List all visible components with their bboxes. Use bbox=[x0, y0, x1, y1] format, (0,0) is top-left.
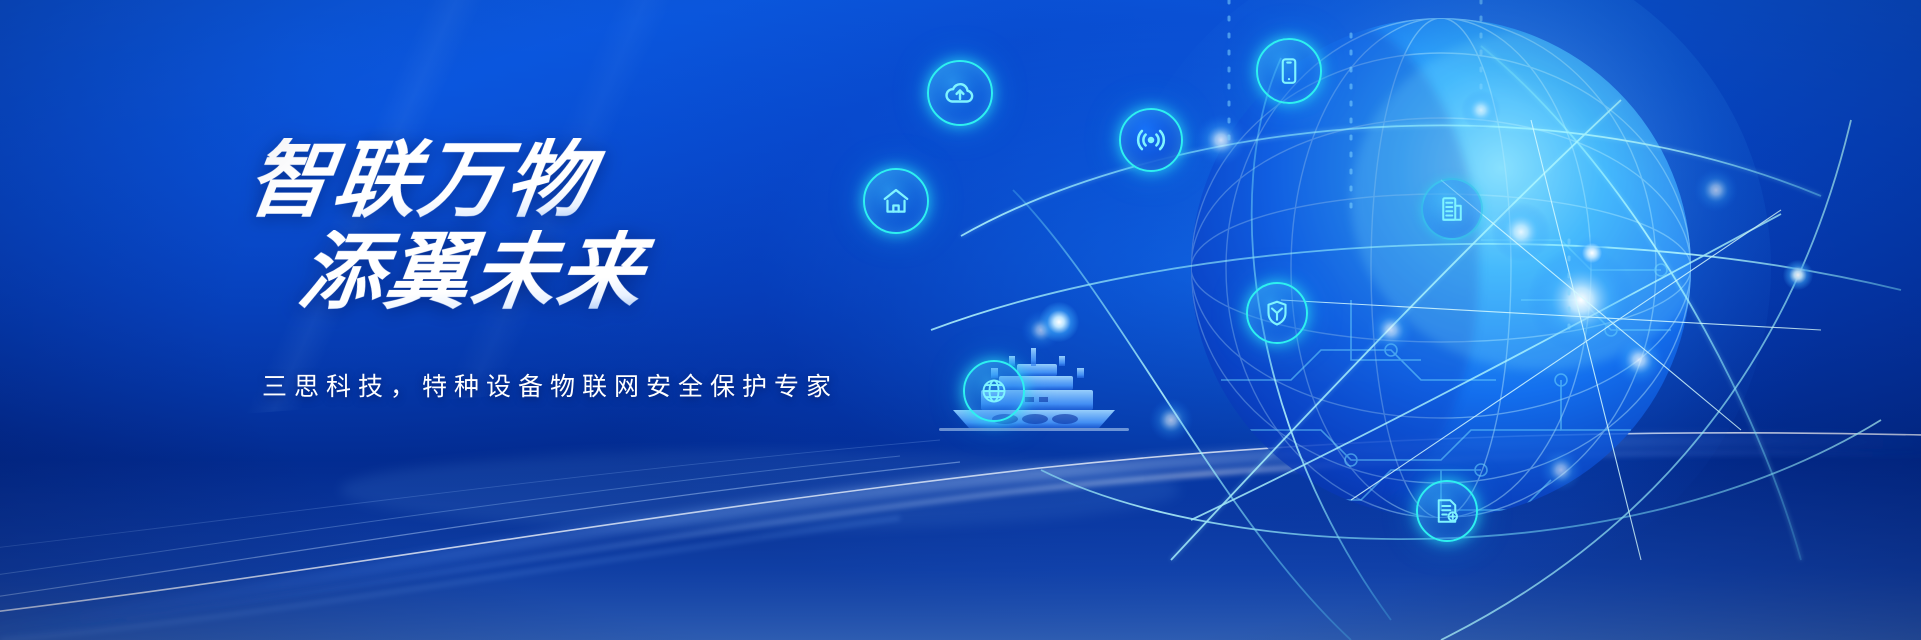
headline-line-1: 智联万物 bbox=[242, 138, 954, 224]
document-report-icon[interactable] bbox=[1416, 480, 1478, 542]
mobile-phone-icon[interactable] bbox=[1256, 38, 1322, 104]
wifi-signal-icon[interactable] bbox=[1119, 108, 1183, 172]
building-icon[interactable] bbox=[1421, 178, 1483, 240]
headline-line-2: 添翼未来 bbox=[294, 230, 954, 316]
home-icon[interactable] bbox=[863, 168, 929, 234]
globe-graphic bbox=[921, 0, 1921, 640]
globe-network-icon[interactable] bbox=[963, 360, 1025, 422]
globe-network-scene bbox=[921, 0, 1921, 640]
shield-icon[interactable] bbox=[1246, 282, 1308, 344]
hero-banner: 智联万物 添翼未来 三思科技，特种设备物联网安全保护专家 bbox=[0, 0, 1921, 640]
hero-subtitle: 三思科技，特种设备物联网安全保护专家 bbox=[262, 367, 948, 403]
cloud-upload-icon[interactable] bbox=[927, 60, 993, 126]
hero-copy: 智联万物 添翼未来 三思科技，特种设备物联网安全保护专家 bbox=[248, 138, 948, 403]
